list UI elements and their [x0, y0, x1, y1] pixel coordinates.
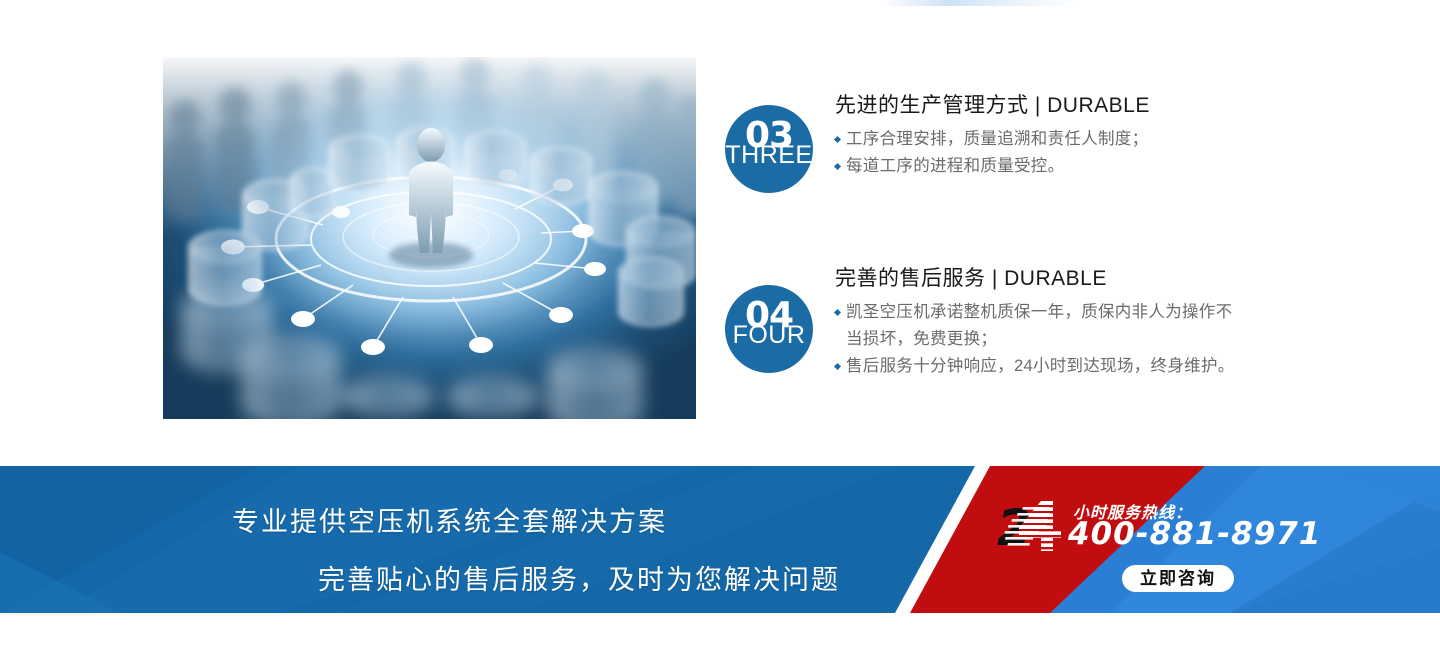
feature-list: 工序合理安排，质量追溯和责任人制度； 每道工序的进程和质量受控。	[835, 126, 1245, 180]
feature-item-text: 每道工序的进程和质量受控。	[846, 157, 1064, 175]
illustration-graphic	[163, 57, 696, 419]
feature-block-04: 04 FOUR 完善的售后服务 | DURABLE 凯圣空压机承诺整机质保一年，…	[725, 265, 1285, 380]
feature-title: 先进的生产管理方式 | DURABLE	[835, 92, 1285, 120]
banner-headline-line-1: 专业提供空压机系统全套解决方案	[232, 500, 667, 539]
feature-title: 完善的售后服务 | DURABLE	[835, 265, 1285, 293]
feature-list-item: 凯圣空压机承诺整机质保一年，质保内非人为操作不当损坏，免费更换；	[835, 299, 1245, 353]
feature-list-item: 每道工序的进程和质量受控。	[835, 153, 1245, 180]
diamond-bullet-icon	[834, 163, 841, 170]
feature-list: 凯圣空压机承诺整机质保一年，质保内非人为操作不当损坏，免费更换； 售后服务十分钟…	[835, 299, 1245, 380]
top-cutoff-sliver	[880, 0, 1080, 6]
feature-list-item: 售后服务十分钟响应，24小时到达现场，终身维护。	[835, 353, 1245, 380]
banner-headline-group: 专业提供空压机系统全套解决方案 完善贴心的售后服务，及时为您解决问题	[0, 466, 930, 613]
diamond-bullet-icon	[834, 363, 841, 370]
feature-item-text: 凯圣空压机承诺整机质保一年，质保内非人为操作不当损坏，免费更换；	[846, 303, 1232, 348]
banner-headline-line-2: 完善贴心的售后服务，及时为您解决问题	[318, 558, 840, 597]
feature-body: 先进的生产管理方式 | DURABLE 工序合理安排，质量追溯和责任人制度； 每…	[835, 92, 1285, 180]
diamond-bullet-icon	[834, 309, 841, 316]
24-hours-logo-icon: 2	[995, 499, 1075, 553]
feature-item-text: 售后服务十分钟响应，24小时到达现场，终身维护。	[846, 357, 1235, 375]
hotline-group: 2 小时服务热线： 400-881-897	[995, 497, 1245, 559]
diamond-bullet-icon	[834, 136, 841, 143]
feature-block-03: 03 THREE 先进的生产管理方式 | DURABLE 工序合理安排，质量追溯…	[725, 92, 1285, 180]
badge-word: FOUR	[725, 321, 813, 349]
feature-body: 完善的售后服务 | DURABLE 凯圣空压机承诺整机质保一年，质保内非人为操作…	[835, 265, 1285, 380]
network-connection-illustration	[163, 57, 696, 419]
feature-item-text: 工序合理安排，质量追溯和责任人制度；	[846, 130, 1148, 148]
feature-badge-03: 03 THREE	[725, 105, 813, 193]
hotline-number[interactable]: 400-881-8971	[1068, 516, 1321, 552]
badge-word: THREE	[725, 141, 813, 169]
feature-list-item: 工序合理安排，质量追溯和责任人制度；	[835, 126, 1245, 153]
consult-now-button[interactable]: 立即咨询	[1122, 565, 1234, 592]
feature-badge-04: 04 FOUR	[725, 285, 813, 373]
